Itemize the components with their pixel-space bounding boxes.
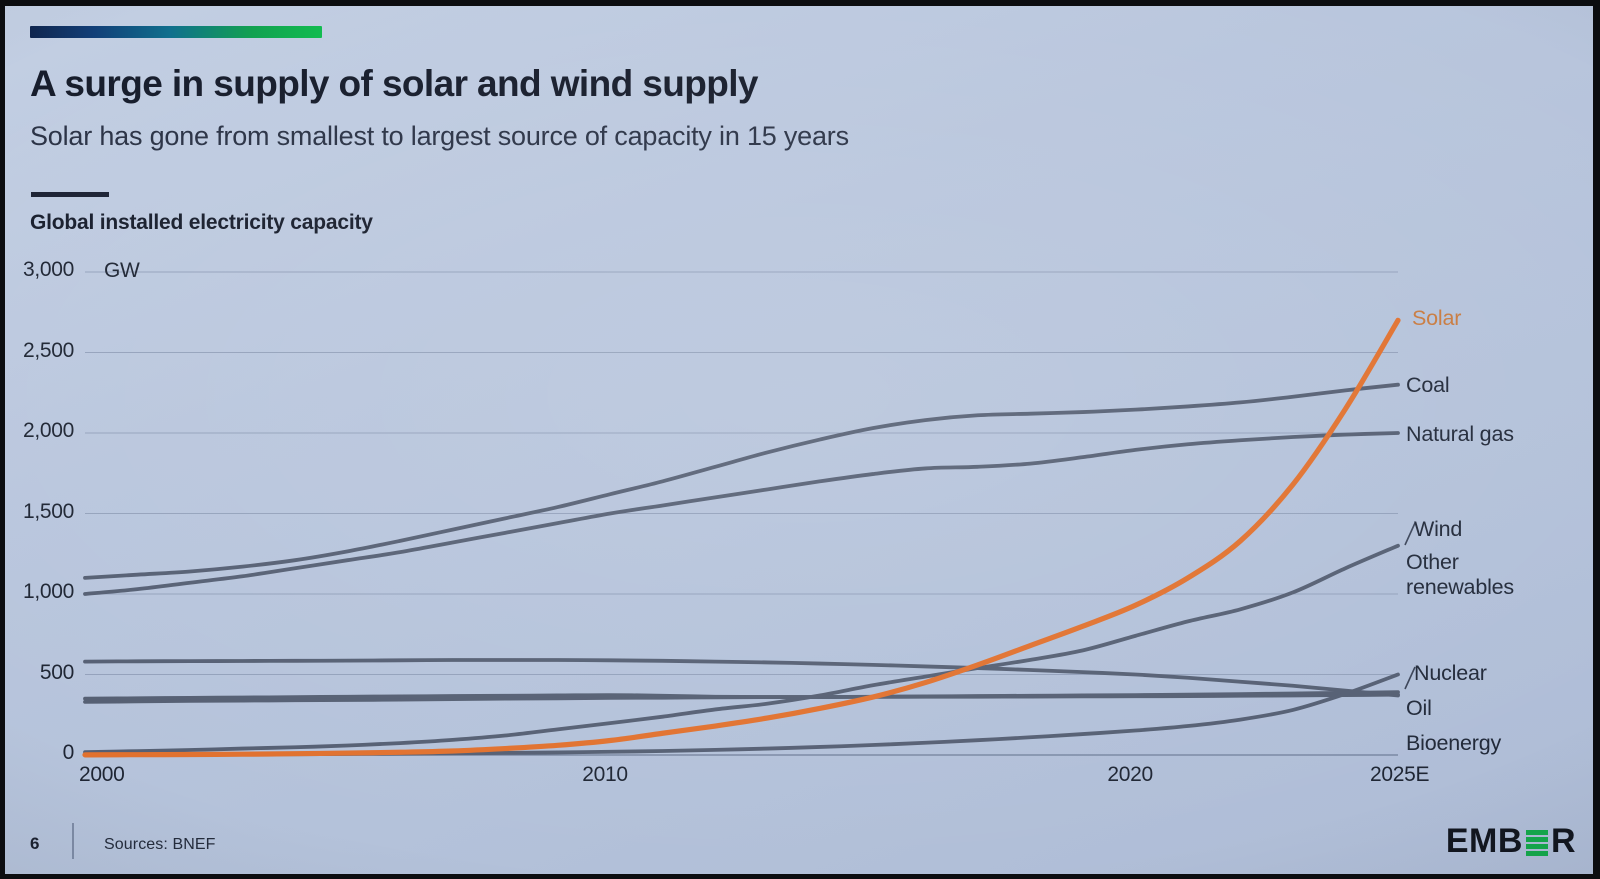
y-tick-500: 500 bbox=[0, 661, 74, 685]
series-line-solar bbox=[85, 320, 1398, 755]
series-label-coal: Coal bbox=[1406, 373, 1449, 398]
series-label-bioenergy: Bioenergy bbox=[1406, 731, 1501, 756]
y-tick-1500: 1,500 bbox=[0, 500, 74, 524]
y-axis-unit: GW bbox=[104, 259, 140, 283]
series-lines bbox=[85, 320, 1415, 755]
x-tick-2025E: 2025E bbox=[1370, 763, 1429, 787]
series-line-coal bbox=[85, 385, 1398, 578]
y-tick-3000: 3,000 bbox=[0, 258, 74, 282]
series-label-solar: Solar bbox=[1412, 306, 1461, 331]
y-tick-1000: 1,000 bbox=[0, 580, 74, 604]
logo-text-left: EMB bbox=[1446, 822, 1523, 861]
y-tick-2500: 2,500 bbox=[0, 339, 74, 363]
slide-root: A surge in supply of solar and wind supp… bbox=[0, 0, 1600, 879]
series-line-other-renewables bbox=[85, 675, 1398, 755]
y-tick-2000: 2,000 bbox=[0, 419, 74, 443]
line-chart bbox=[0, 0, 1600, 879]
footer-divider bbox=[72, 823, 74, 859]
series-label-wind: Wind bbox=[1414, 517, 1462, 542]
footer-sources: Sources: BNEF bbox=[104, 836, 216, 854]
series-label-oil: Oil bbox=[1406, 696, 1432, 721]
logo-text-right: R bbox=[1551, 822, 1576, 861]
series-line-oil bbox=[85, 660, 1398, 695]
series-label-natural-gas: Natural gas bbox=[1406, 422, 1514, 447]
ember-logo: EMB R bbox=[1446, 822, 1576, 861]
series-label-other-renewables: Other renewables bbox=[1406, 550, 1514, 600]
x-tick-2020: 2020 bbox=[1107, 763, 1153, 787]
x-tick-2000: 2000 bbox=[79, 763, 125, 787]
series-label-nuclear: Nuclear bbox=[1414, 661, 1487, 686]
x-tick-2010: 2010 bbox=[582, 763, 628, 787]
gridlines bbox=[85, 272, 1398, 755]
logo-e-bars-icon bbox=[1526, 830, 1548, 856]
page-number: 6 bbox=[30, 834, 39, 854]
y-tick-0: 0 bbox=[0, 741, 74, 765]
